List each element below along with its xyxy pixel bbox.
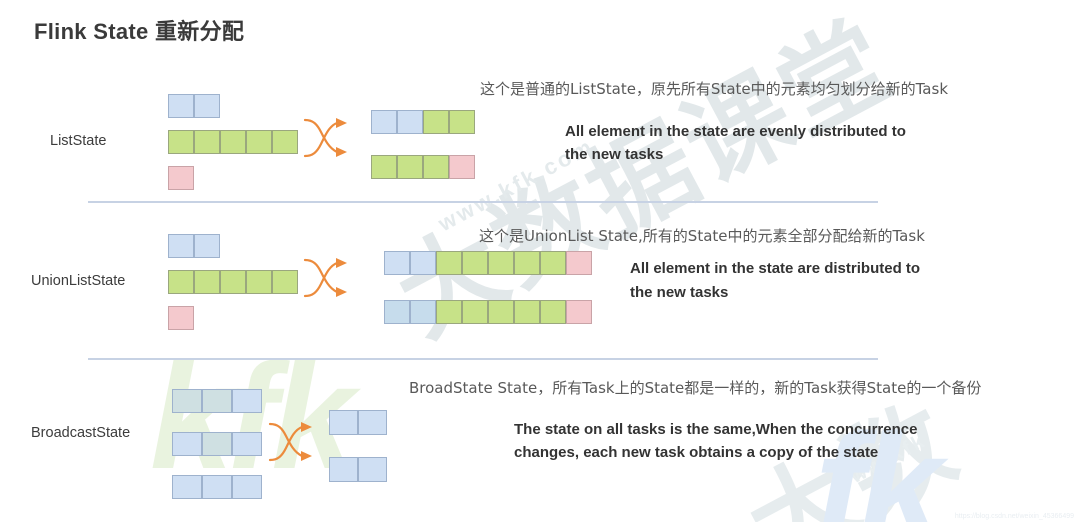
state-cell	[232, 475, 262, 499]
state-cell	[514, 251, 540, 275]
state-cell	[423, 155, 449, 179]
description-en-broadcast-state-line2: changes, each new task obtains a copy of…	[514, 441, 1034, 465]
state-cell	[384, 251, 410, 275]
state-cell	[449, 110, 475, 134]
section-divider-2	[88, 358, 878, 360]
source-row	[168, 306, 194, 330]
source-row	[168, 166, 194, 190]
state-cell	[246, 270, 272, 294]
state-cell	[462, 251, 488, 275]
redistribution-arrows	[303, 114, 355, 162]
state-cell	[540, 251, 566, 275]
state-cell	[358, 457, 387, 482]
state-cell	[172, 389, 202, 413]
state-cell	[423, 110, 449, 134]
state-cell	[436, 251, 462, 275]
section-label-list-state: ListState	[50, 133, 106, 149]
description-en-union-list-state-line2: the new tasks	[630, 281, 1060, 305]
source-row	[172, 475, 262, 499]
page-title: Flink State 重新分配	[34, 14, 244, 46]
description-en-list-state-line1: All element in the state are evenly dist…	[565, 120, 1025, 144]
state-cell	[436, 300, 462, 324]
watermark-source-url: https://blog.csdn.net/weixin_45366499	[955, 513, 1074, 520]
state-cell	[194, 94, 220, 118]
state-cell	[172, 475, 202, 499]
state-cell	[194, 130, 220, 154]
state-cell	[329, 457, 358, 482]
description-en-union-list-state-line1: All element in the state are distributed…	[630, 257, 1060, 281]
state-cell	[566, 251, 592, 275]
source-row	[168, 130, 298, 154]
state-cell	[168, 306, 194, 330]
target-row	[384, 251, 592, 275]
state-cell	[329, 410, 358, 435]
state-cell	[202, 432, 232, 456]
state-cell	[246, 130, 272, 154]
state-cell	[384, 300, 410, 324]
state-cell	[168, 234, 194, 258]
description-en-list-state-line2: the new tasks	[565, 143, 1025, 167]
source-row	[168, 234, 220, 258]
page-title-cn: 重新分配	[155, 20, 244, 45]
state-cell	[397, 155, 423, 179]
state-cell	[358, 410, 387, 435]
description-cn-union-list-state: 这个是UnionList State,所有的State中的元素全部分配给新的Ta…	[479, 225, 1039, 247]
source-row	[172, 432, 262, 456]
state-cell	[232, 389, 262, 413]
description-cn-list-state: 这个是普通的ListState，原先所有State中的元素均匀划分给新的Task	[480, 78, 1010, 100]
state-cell	[202, 475, 232, 499]
state-cell	[168, 94, 194, 118]
description-en-broadcast-state-line1: The state on all tasks is the same,When …	[514, 418, 1034, 442]
state-cell	[462, 300, 488, 324]
state-cell	[371, 110, 397, 134]
section-label-broadcast-state: BroadcastState	[31, 425, 130, 441]
target-row	[371, 110, 475, 134]
state-cell	[168, 166, 194, 190]
redistribution-arrows	[303, 254, 355, 302]
page-title-main: Flink State	[34, 19, 155, 44]
description-cn-broadcast-state: BroadState State，所有Task上的State都是一样的，新的Ta…	[409, 377, 1034, 399]
state-cell	[172, 432, 202, 456]
state-cell	[232, 432, 262, 456]
state-cell	[449, 155, 475, 179]
state-cell	[410, 300, 436, 324]
state-cell	[540, 300, 566, 324]
state-cell	[220, 270, 246, 294]
state-cell	[194, 270, 220, 294]
state-cell	[410, 251, 436, 275]
target-row	[329, 410, 387, 435]
redistribution-arrows	[268, 418, 320, 466]
source-row	[172, 389, 262, 413]
state-cell	[488, 300, 514, 324]
target-row	[384, 300, 592, 324]
source-row	[168, 94, 220, 118]
section-label-union-list-state: UnionListState	[31, 273, 125, 289]
state-cell	[220, 130, 246, 154]
state-cell	[272, 270, 298, 294]
state-cell	[397, 110, 423, 134]
target-row	[329, 457, 387, 482]
slide-canvas: 大数据课堂 www.kfk.com 大数据课 www.kfk kfk fk ht…	[0, 0, 1080, 522]
state-cell	[371, 155, 397, 179]
state-cell	[168, 130, 194, 154]
target-row	[371, 155, 475, 179]
section-divider-1	[88, 201, 878, 203]
state-cell	[202, 389, 232, 413]
state-cell	[168, 270, 194, 294]
state-cell	[514, 300, 540, 324]
source-row	[168, 270, 298, 294]
state-cell	[272, 130, 298, 154]
state-cell	[194, 234, 220, 258]
state-cell	[488, 251, 514, 275]
state-cell	[566, 300, 592, 324]
